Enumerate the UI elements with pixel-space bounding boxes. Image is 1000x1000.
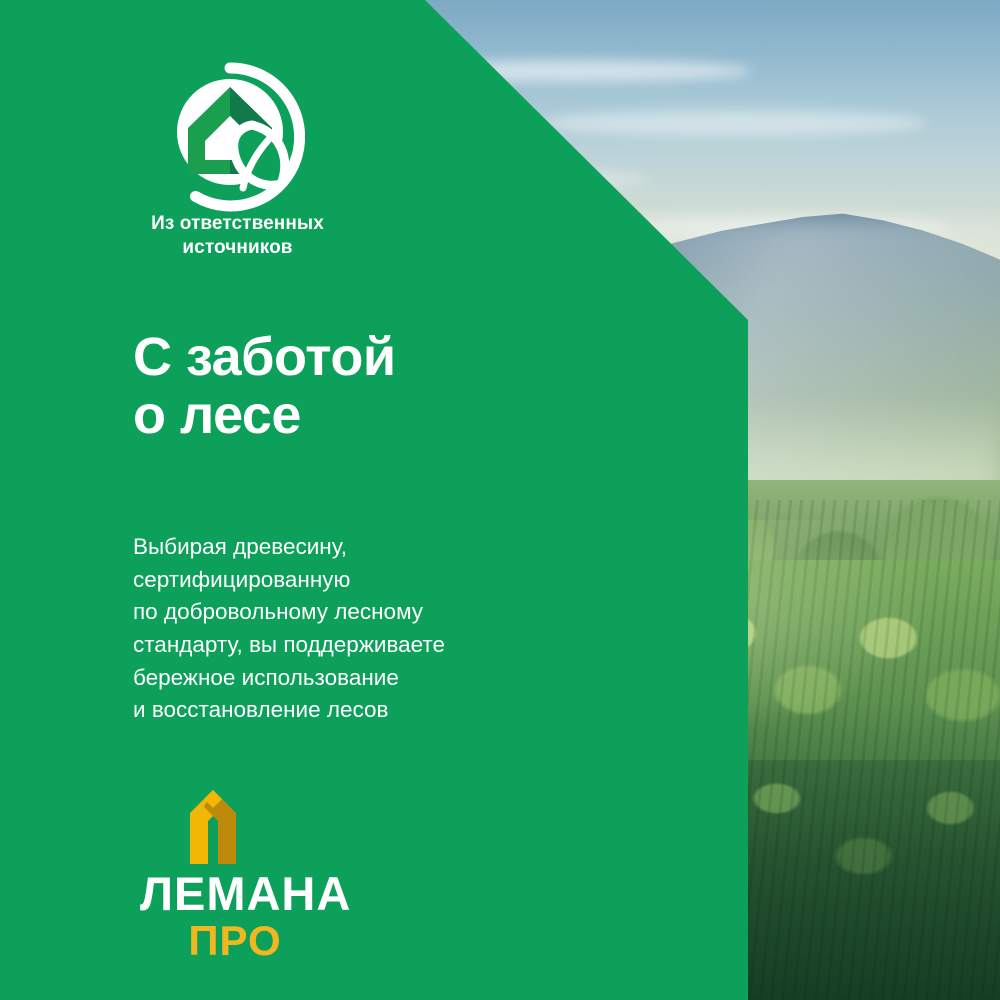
- body-line: бережное использование: [133, 662, 653, 695]
- cloud-band: [541, 110, 925, 136]
- body-line: Выбирая древесину,: [133, 531, 653, 564]
- body-line: и восстановление лесов: [133, 694, 653, 727]
- headline: С заботой о лесе: [133, 328, 613, 445]
- poster: Из ответственных источников С заботой о …: [0, 0, 1000, 1000]
- brand-sub: ПРО: [140, 919, 330, 963]
- eco-caption-line-2: источников: [110, 236, 365, 260]
- headline-line-2: о лесе: [133, 386, 613, 444]
- headline-line-1: С заботой: [133, 328, 613, 386]
- body-line: по добровольному лесному: [133, 596, 653, 629]
- body-copy: Выбирая древесину, сертифицированную по …: [133, 531, 653, 727]
- body-line: сертифицированную: [133, 564, 653, 597]
- eco-caption-line-1: Из ответственных: [110, 212, 365, 236]
- brand-lockup: ЛЕМАНА ПРО: [140, 788, 330, 963]
- body-line: стандарту, вы поддерживаете: [133, 629, 653, 662]
- eco-badge-caption: Из ответственных источников: [110, 212, 365, 261]
- lemana-house-arrow-icon: [170, 788, 256, 866]
- responsible-sourcing-house-leaf-icon: [155, 62, 305, 212]
- brand-name: ЛЕМАНА: [140, 870, 330, 917]
- responsible-sourcing-badge: [155, 62, 305, 212]
